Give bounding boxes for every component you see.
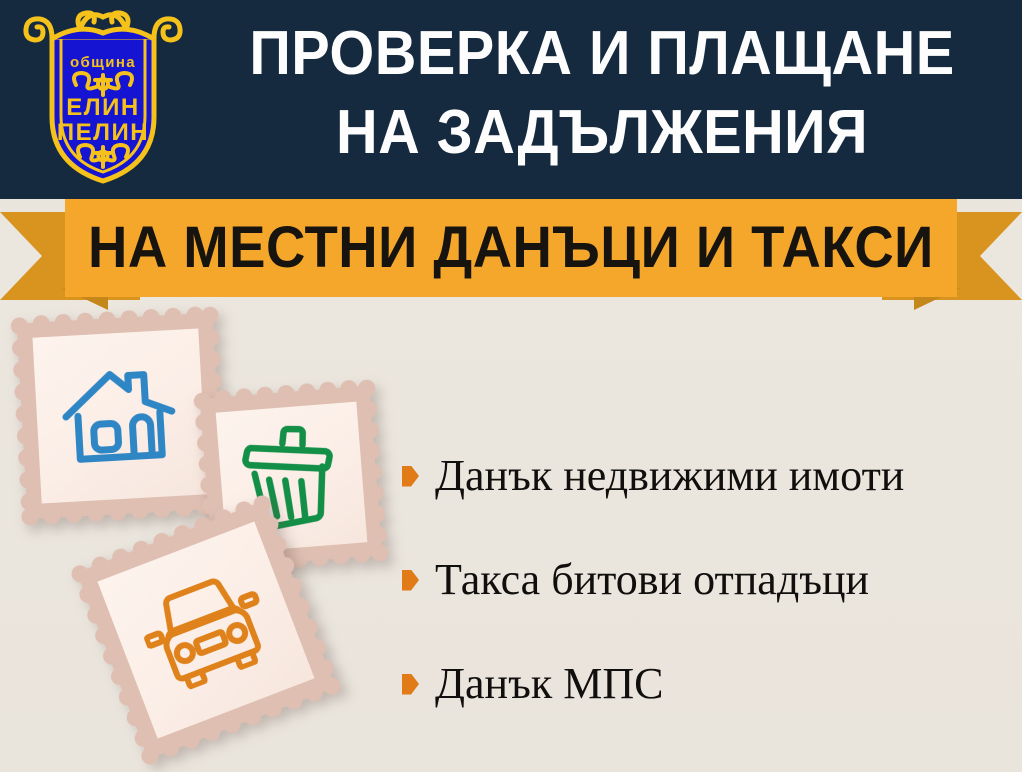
list-item-label: Данък недвижими имоти xyxy=(435,451,904,501)
logo-line-1: община xyxy=(70,54,136,71)
stamp-paper-car xyxy=(97,521,314,738)
list-item[interactable]: Такса битови отпадъци xyxy=(402,528,1002,632)
stamp-card-house xyxy=(17,313,224,520)
stamp-paper-house xyxy=(32,328,207,503)
bullet-arrow-icon xyxy=(402,466,419,487)
list-item-label: Данък МПС xyxy=(435,659,663,709)
tax-type-list: Данък недвижими имоти Такса битови отпад… xyxy=(402,424,1002,736)
house-icon xyxy=(57,358,183,475)
municipality-logo: община ЕЛИН ПЕЛИН xyxy=(18,5,188,190)
page-title-line-1: ПРОВЕРКА И ПЛАЩАНЕ xyxy=(224,14,979,93)
ribbon-band: НА МЕСТНИ ДАНЪЦИ И ТАКСИ xyxy=(65,199,957,297)
list-item[interactable]: Данък недвижими имоти xyxy=(402,424,1002,528)
subtitle-ribbon: НА МЕСТНИ ДАНЪЦИ И ТАКСИ xyxy=(0,198,1022,310)
ribbon-label: НА МЕСТНИ ДАНЪЦИ И ТАКСИ xyxy=(88,219,934,277)
poster-header: община ЕЛИН ПЕЛИН xyxy=(0,0,1022,199)
page-title-line-2: НА ЗАДЪЛЖЕНИЯ xyxy=(224,93,979,172)
poster-canvas: Данък недвижими имоти Такса битови отпад… xyxy=(0,0,1022,772)
elin-pelin-coat-of-arms-icon: община ЕЛИН ПЕЛИН xyxy=(18,5,188,190)
list-item[interactable]: Данък МПС xyxy=(402,632,1002,736)
list-item-label: Такса битови отпадъци xyxy=(435,555,869,605)
logo-line-2: ЕЛИН xyxy=(66,94,139,121)
bullet-arrow-icon xyxy=(402,570,419,591)
logo-line-3: ПЕЛИН xyxy=(57,119,149,146)
bullet-arrow-icon xyxy=(402,674,419,695)
car-front-icon xyxy=(131,561,281,698)
page-title: ПРОВЕРКА И ПЛАЩАНЕ НА ЗАДЪЛЖЕНИЯ xyxy=(196,14,1008,172)
